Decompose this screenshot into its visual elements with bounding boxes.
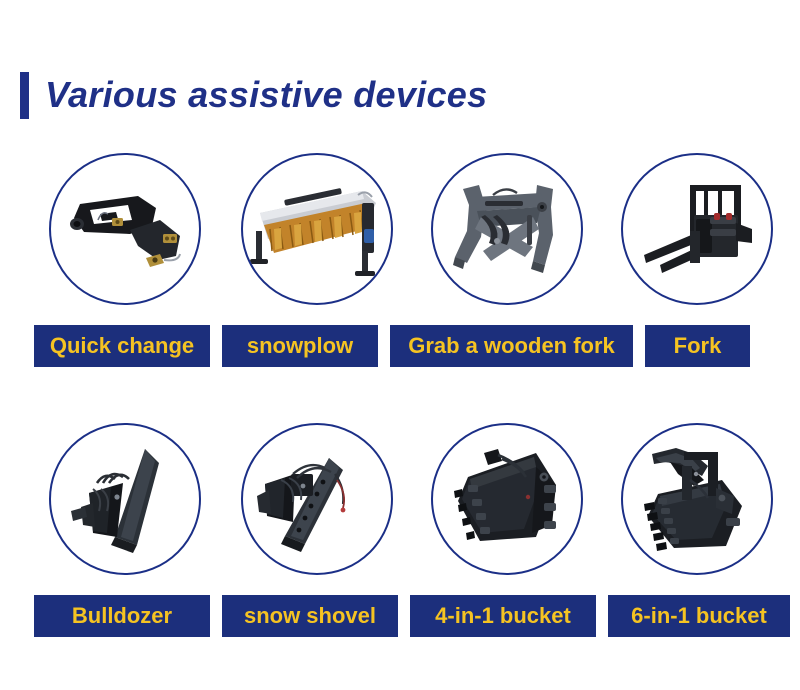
dozer-blade-icon [59,441,191,557]
product-image-frame [621,153,773,305]
product-image-frame [621,423,773,575]
product-image-frame [49,423,201,575]
product-label: snow shovel [222,595,398,637]
product-card-log-grapple[interactable]: Grab a wooden fork [390,150,633,367]
product-label: Quick change [34,325,210,367]
product-card-quick-change[interactable]: Quick change [34,150,210,367]
product-row: Bulldozer [0,420,800,690]
product-card-4in1-bucket[interactable]: 4-in-1 bucket [410,420,596,637]
snow-blade-icon [251,440,383,558]
thumb-wrap [618,420,776,578]
product-card-snowplow[interactable]: snowplow [222,150,378,367]
product-image-frame [431,423,583,575]
product-label: Fork [645,325,750,367]
product-image-frame [241,153,393,305]
product-label: 4-in-1 bucket [410,595,596,637]
thumb-wrap [46,420,204,578]
product-card-snow-shovel[interactable]: snow shovel [222,420,398,637]
log-grapple-icon [441,171,573,287]
page-title-row: Various assistive devices [20,70,487,120]
thumb-wrap [618,150,776,308]
rotary-broom-icon [250,173,384,285]
product-label: snowplow [222,325,378,367]
product-row: Quick change [0,150,800,420]
assistive-devices-page: { "header": { "title": "Various assistiv… [0,0,800,689]
product-label: Grab a wooden fork [390,325,633,367]
six-in-one-bucket-icon [630,440,764,558]
page-title: Various assistive devices [45,77,487,113]
product-label: 6-in-1 bucket [608,595,790,637]
pallet-fork-icon [630,171,764,287]
product-image-frame [431,153,583,305]
thumb-wrap [428,420,586,578]
thumb-wrap [46,150,204,308]
product-card-bulldozer[interactable]: Bulldozer [34,420,210,637]
product-image-frame [241,423,393,575]
thumb-wrap [428,150,586,308]
product-card-6in1-bucket[interactable]: 6-in-1 bucket [608,420,790,637]
quick-change-coupler-icon [60,174,190,284]
title-accent-bar [20,72,29,119]
product-image-frame [49,153,201,305]
thumb-wrap [238,420,396,578]
product-card-fork[interactable]: Fork [645,150,750,367]
four-in-one-bucket-icon [440,441,574,557]
product-grid: Quick change [0,150,800,690]
thumb-wrap [238,150,396,308]
product-label: Bulldozer [34,595,210,637]
